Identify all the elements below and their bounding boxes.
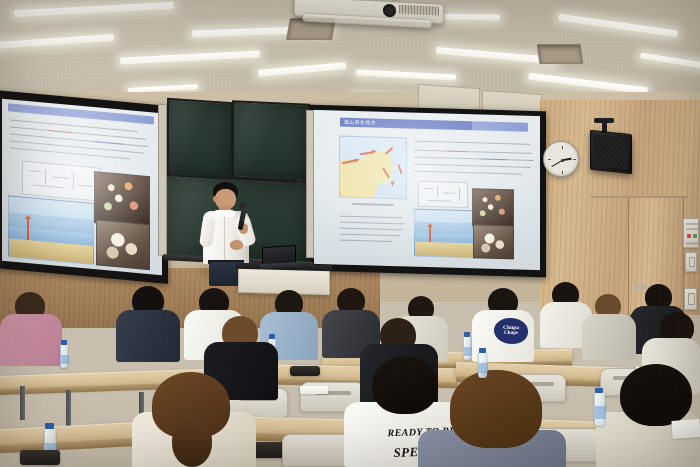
switch-toggle[interactable]: [689, 257, 695, 267]
shirt-placket: [224, 215, 225, 263]
audience-torso: [582, 314, 636, 360]
slide-body-highlight: [480, 158, 506, 160]
slide-text-line: [10, 140, 144, 154]
slide-text-line-highlight: [94, 141, 124, 145]
presenter-collar: [214, 210, 235, 217]
microphone-head: [239, 202, 246, 209]
warm-current-arrow: [27, 218, 29, 240]
left-screen-surface: [2, 99, 162, 276]
audience-head: [372, 356, 438, 414]
speaker-mount-plate: [594, 118, 614, 123]
logo-line-2: Chups: [504, 331, 518, 336]
audience-head: [620, 364, 692, 426]
clock-hour-hand: [562, 158, 571, 161]
bottle-cap: [464, 332, 470, 337]
slide-text-line: [10, 126, 146, 140]
clock-tick: [562, 146, 563, 149]
pencil-case[interactable]: [20, 450, 60, 465]
warm-current-arrow: [429, 226, 431, 242]
map-caption: [352, 203, 394, 206]
bottle-cap: [595, 388, 603, 393]
ceiling-speaker: [590, 130, 632, 174]
handout-paper[interactable]: [671, 419, 700, 439]
ocean-floor: [415, 242, 475, 257]
slide-body-line: [414, 141, 530, 146]
slide-text-line: [10, 133, 148, 147]
slide-food-photo: [472, 188, 514, 227]
water-bottle[interactable]: [463, 336, 471, 360]
panel-indicator[interactable]: [693, 234, 697, 238]
bottle-cap: [479, 348, 486, 353]
shirt-logo-chupa-chups: Chupa Chups: [494, 318, 528, 344]
panel-indicator[interactable]: [687, 234, 691, 238]
current-arrow-head: [372, 149, 378, 154]
bottle-cap: [61, 340, 67, 345]
clock-tick: [548, 159, 551, 160]
water-bottle[interactable]: [594, 392, 605, 426]
door-handle: [635, 285, 647, 289]
ocean-layer-band: [415, 222, 476, 235]
audience-head: [450, 370, 542, 448]
food-photo-content: [95, 172, 149, 227]
slide-body-line: [414, 150, 532, 155]
slide-footer-line: [340, 222, 404, 225]
bottle-label: [479, 363, 488, 373]
clock-center-pin: [561, 159, 564, 162]
slide-text-line-highlight: [48, 130, 72, 134]
current-arrow-line: [397, 164, 402, 174]
slide-ocean-cross-section: [8, 195, 94, 265]
wall-switch-panel[interactable]: [684, 288, 697, 310]
projector-vent: [399, 5, 439, 16]
slide-footer-line: [340, 216, 402, 219]
current-arrow-head: [390, 181, 394, 186]
audience-ponytail: [172, 420, 212, 467]
bottle-label: [61, 355, 69, 364]
desk-leg: [66, 390, 71, 426]
board-sheen: [169, 100, 231, 178]
clock-tick: [573, 159, 576, 160]
slide-sketch-diagram: [22, 161, 100, 202]
panel-row: [686, 223, 698, 225]
wall-switch-panel[interactable]: [685, 252, 697, 272]
slide-footer-line: [340, 234, 400, 237]
map-landmass: [362, 151, 392, 184]
ocean-floor: [9, 238, 93, 264]
panel-row: [686, 242, 698, 245]
speaker-mesh: [594, 134, 628, 170]
slide-title-extension: [472, 121, 528, 132]
bottle-label: [464, 347, 472, 356]
ocean-layer-band: [9, 212, 94, 234]
food-photo-content: [473, 189, 513, 226]
audience-torso: [116, 310, 180, 362]
water-bottle[interactable]: [60, 344, 68, 368]
wall-control-panel: [683, 218, 699, 248]
handout-paper[interactable]: [300, 386, 328, 394]
board-side-track: [306, 110, 314, 258]
blackboard-upper-left: [167, 98, 233, 181]
slide-body-line: [414, 171, 522, 175]
water-bottle[interactable]: [478, 352, 487, 378]
panel-row: [686, 228, 698, 230]
ceiling-vent: [537, 44, 584, 64]
clock-face: [546, 144, 576, 174]
slide-body-line: [414, 164, 531, 169]
bottle-cap: [269, 334, 275, 339]
bottle-label: [595, 406, 606, 419]
slide-food-photo: [96, 219, 150, 270]
board-sheen: [234, 102, 308, 179]
slide-title: 富山県氷見市: [340, 118, 472, 131]
wall-rail: [590, 196, 688, 198]
pencil-case[interactable]: [290, 366, 320, 376]
slide-sketch-diagram: [418, 181, 468, 208]
slide-footer-line: [340, 240, 392, 243]
lecture-hall-photo: 富山県氷見市: [0, 0, 700, 467]
slide-body-highlight: [446, 151, 466, 153]
slide-body-line: [414, 157, 534, 162]
wall-clock: [543, 141, 579, 177]
projector-lens: [383, 4, 396, 18]
slide-footer-line: [340, 228, 403, 231]
board-side-track: [158, 104, 167, 257]
audience-torso: [0, 314, 62, 366]
slide-map: [339, 136, 407, 200]
desk-leg: [20, 386, 25, 420]
bottle-cap: [45, 423, 54, 429]
food-photo-content: [97, 220, 149, 269]
presenter-ear: [213, 196, 217, 202]
blackboard-upper-right: [232, 100, 310, 182]
presenter-hand-left: [230, 240, 243, 250]
right-screen-surface: 富山県氷見市: [314, 110, 540, 270]
clock-tick: [562, 171, 563, 174]
slide-food-photo: [473, 224, 514, 259]
switch-toggle[interactable]: [688, 293, 695, 305]
food-photo-content: [474, 225, 513, 258]
slide-ocean-cross-section: [414, 209, 476, 259]
